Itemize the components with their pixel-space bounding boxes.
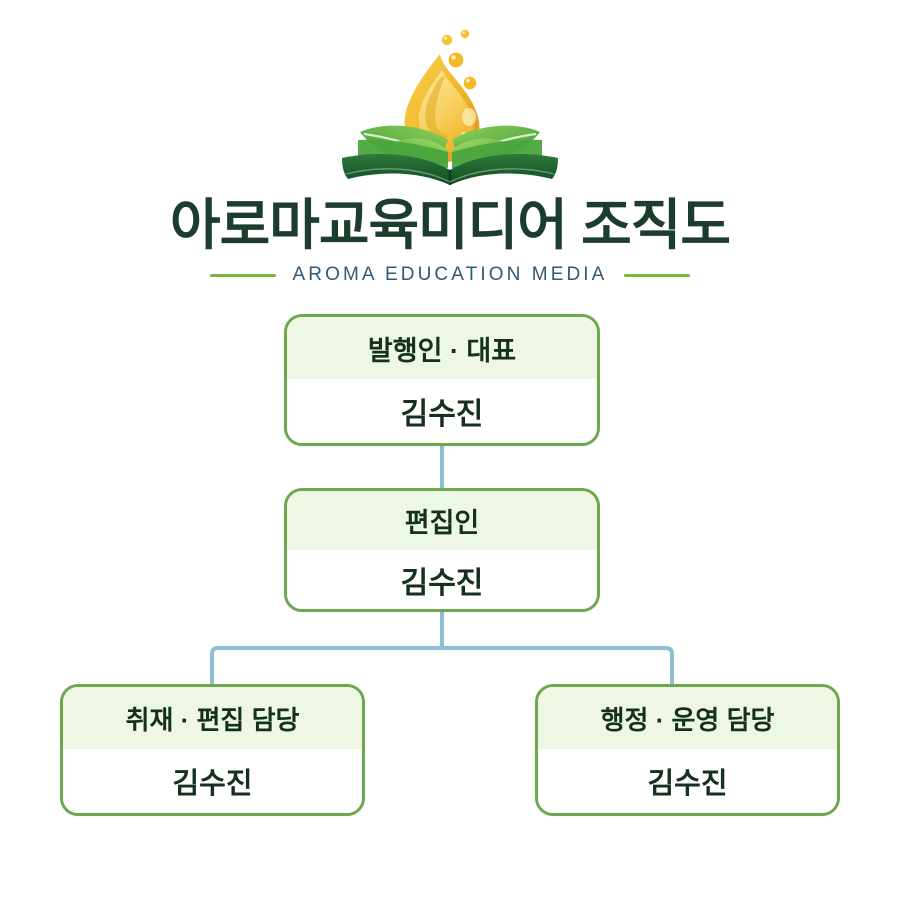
subtitle-row: AROMA EDUCATION MEDIA xyxy=(0,264,900,286)
logo-svg xyxy=(330,22,570,194)
org-node-editor-title: 편집인 xyxy=(287,491,597,550)
org-chart-page: 아로마교육미디어 조직도 AROMA EDUCATION MEDIA 발행인 ·… xyxy=(0,0,900,902)
org-node-publisher-name: 김수진 xyxy=(287,379,597,443)
title-block: 아로마교육미디어 조직도 AROMA EDUCATION MEDIA xyxy=(0,196,900,286)
org-node-editor-name: 김수진 xyxy=(287,550,597,609)
subtitle-rule-left xyxy=(210,274,276,277)
org-node-publisher[interactable]: 발행인 · 대표 김수진 xyxy=(284,314,600,446)
org-node-publisher-title: 발행인 · 대표 xyxy=(287,317,597,379)
logo xyxy=(0,22,900,194)
subtitle-rule-right xyxy=(624,274,690,277)
org-node-admin-title: 행정 · 운영 담당 xyxy=(538,687,837,749)
org-node-reporting-name: 김수진 xyxy=(63,749,362,813)
org-node-reporting-title: 취재 · 편집 담당 xyxy=(63,687,362,749)
page-title: 아로마교육미디어 조직도 xyxy=(0,196,900,255)
org-node-reporting[interactable]: 취재 · 편집 담당 김수진 xyxy=(60,684,365,816)
connector-split-bar xyxy=(212,648,672,684)
org-node-admin[interactable]: 행정 · 운영 담당 김수진 xyxy=(535,684,840,816)
org-node-admin-name: 김수진 xyxy=(538,749,837,813)
page-subtitle: AROMA EDUCATION MEDIA xyxy=(293,264,608,286)
org-node-editor[interactable]: 편집인 김수진 xyxy=(284,488,600,612)
